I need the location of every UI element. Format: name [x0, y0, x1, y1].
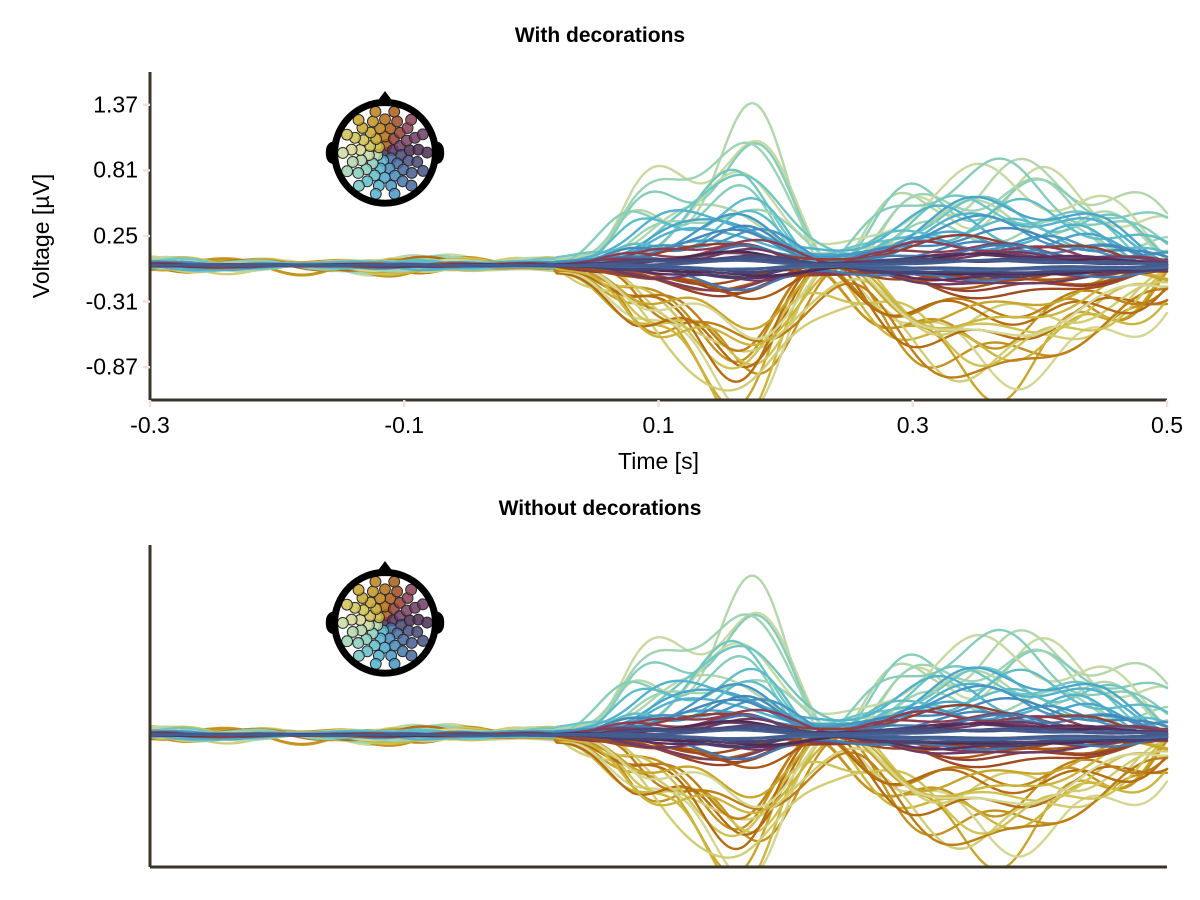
- sensor-layout-topomap-with-decorations: [322, 86, 448, 212]
- sensor-dot: [422, 617, 433, 628]
- sensor-dot: [367, 116, 378, 127]
- sensor-dot: [380, 114, 391, 125]
- sensor-dot: [353, 638, 364, 649]
- topomap-svg: [322, 86, 448, 212]
- sensor-dots-group: [337, 576, 432, 669]
- sensor-dot: [406, 168, 417, 179]
- sensor-dot: [389, 576, 400, 587]
- sensor-dot: [392, 586, 403, 597]
- eeg-butterfly-figure: With decorations-0.3-0.10.10.30.51.370.8…: [0, 0, 1200, 900]
- sensor-dot: [370, 106, 381, 117]
- sensor-dot: [337, 618, 348, 629]
- sensor-dot: [406, 638, 417, 649]
- sensor-dot: [370, 188, 381, 199]
- sensor-dot: [422, 147, 433, 158]
- sensor-dot: [389, 106, 400, 117]
- sensor-dot: [337, 148, 348, 159]
- panel-without-decorations: Without decorations: [0, 0, 1200, 900]
- channel-traces-without-decorations: [150, 576, 1167, 889]
- sensor-dot: [353, 168, 364, 179]
- sensor-dot: [367, 586, 378, 597]
- axes-without-decorations: [0, 0, 1200, 900]
- sensor-dot: [370, 576, 381, 587]
- sensor-dot: [389, 188, 400, 199]
- sensor-dot: [370, 658, 381, 669]
- sensor-layout-topomap-without-decorations: [322, 556, 448, 682]
- sensor-dot: [389, 658, 400, 669]
- sensor-dot: [380, 584, 391, 595]
- sensor-dots-group: [337, 106, 432, 199]
- topomap-svg: [322, 556, 448, 682]
- sensor-dot: [392, 116, 403, 127]
